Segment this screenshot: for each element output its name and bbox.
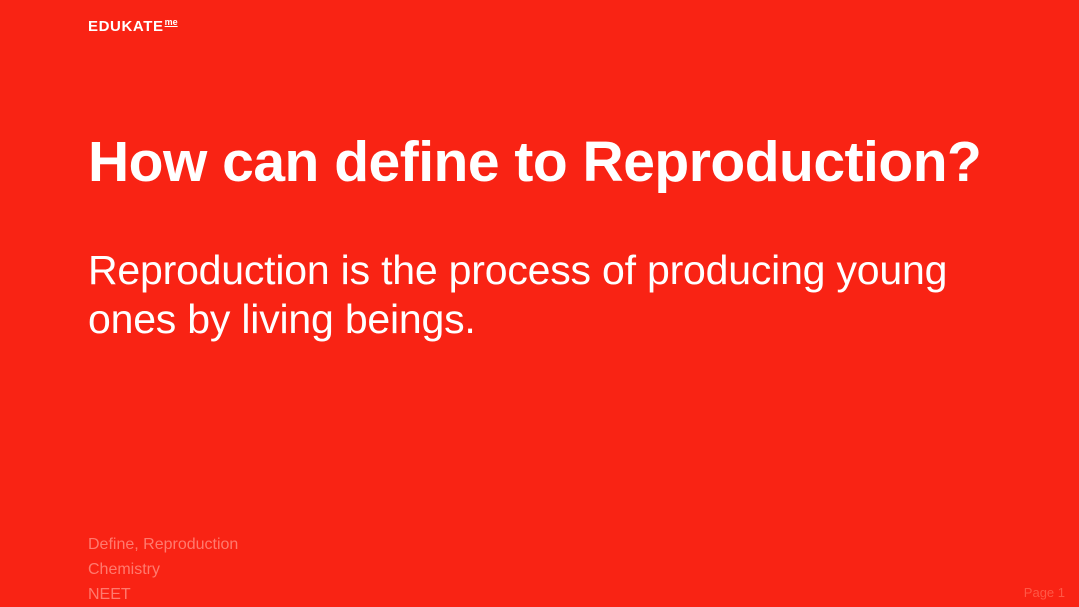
page-number: Page 1	[1024, 586, 1065, 599]
tag-line-subject: Chemistry	[88, 557, 238, 582]
slide-tags: Define, Reproduction Chemistry NEET	[88, 532, 238, 607]
brand-logo-text: EDUKATE	[88, 18, 164, 35]
brand-logo-superscript: me	[165, 17, 178, 27]
slide-title: How can define to Reproduction?	[88, 132, 1018, 194]
tag-line-exam: NEET	[88, 582, 238, 607]
brand-logo: EDUKATEme	[88, 18, 178, 34]
tag-line-topic: Define, Reproduction	[88, 532, 238, 557]
slide-body-text: Reproduction is the process of producing…	[88, 246, 998, 344]
slide-canvas: EDUKATEme How can define to Reproduction…	[0, 0, 1079, 607]
